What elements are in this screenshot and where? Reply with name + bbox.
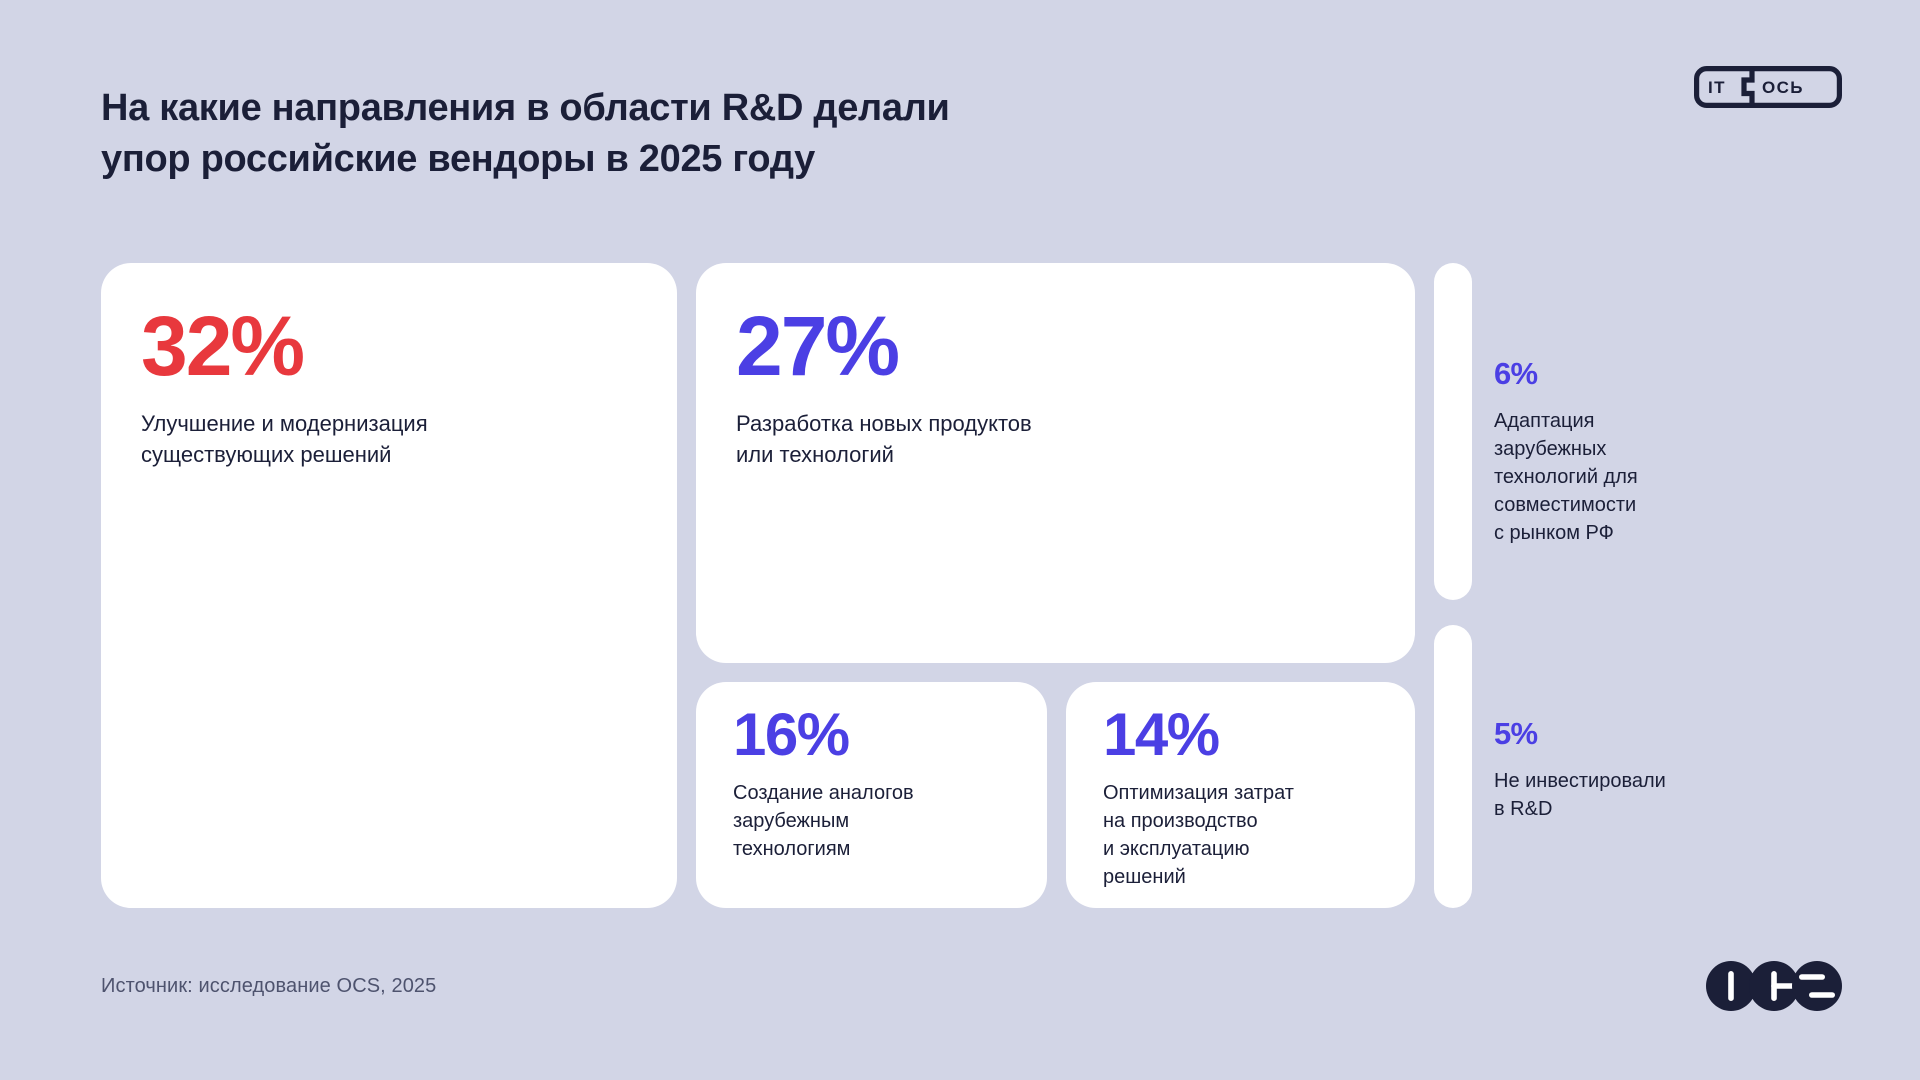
stat-card-content: 16% Создание аналогов зарубежным техноло… <box>733 706 1027 863</box>
stat-caption: Разработка новых продуктов или технологи… <box>736 409 1383 470</box>
stat-percent: 32% <box>141 305 645 387</box>
stat-caption: Создание аналогов зарубежным технологиям <box>733 779 1027 863</box>
side-stat-caption: Адаптация зарубежных технологий для совм… <box>1494 407 1729 547</box>
stat-percent: 16% <box>733 706 1027 765</box>
ocs-logo <box>1706 960 1842 1012</box>
side-stat-caption: Не инвестировали в R&D <box>1494 767 1729 823</box>
stat-percent: 14% <box>1103 706 1395 765</box>
side-stat-adaptation: 6% Адаптация зарубежных технологий для с… <box>1494 358 1729 547</box>
infographic-canvas: На какие направления в области R&D делал… <box>0 0 1920 1080</box>
stat-caption: Улучшение и модернизация существующих ре… <box>141 409 645 470</box>
stat-card-new-products[interactable]: 27% Разработка новых продуктов или техно… <box>696 263 1415 663</box>
stat-bar-adaptation <box>1434 263 1472 600</box>
page-title: На какие направления в области R&D делал… <box>101 83 1221 183</box>
stat-percent: 27% <box>736 305 1383 387</box>
it-os-logo-right: ОСЬ <box>1762 78 1804 97</box>
stat-caption: Оптимизация затрат на производство и экс… <box>1103 779 1395 891</box>
stat-bar-no-investment <box>1434 625 1472 908</box>
side-stat-percent: 5% <box>1494 718 1729 749</box>
it-os-logo-left: IT <box>1708 78 1726 97</box>
stat-card-content: 32% Улучшение и модернизация существующи… <box>141 305 645 470</box>
it-os-logo: IT ОСЬ <box>1694 66 1842 108</box>
side-stat-no-investment: 5% Не инвестировали в R&D <box>1494 718 1729 823</box>
stat-card-cost-optimization[interactable]: 14% Оптимизация затрат на производство и… <box>1066 682 1415 908</box>
side-stat-percent: 6% <box>1494 358 1729 389</box>
stat-card-analogs[interactable]: 16% Создание аналогов зарубежным техноло… <box>696 682 1047 908</box>
stat-card-improvement[interactable]: 32% Улучшение и модернизация существующи… <box>101 263 677 908</box>
stat-card-content: 14% Оптимизация затрат на производство и… <box>1103 706 1395 891</box>
stat-card-content: 27% Разработка новых продуктов или техно… <box>736 305 1383 470</box>
source-note: Источник: исследование OCS, 2025 <box>101 975 436 998</box>
